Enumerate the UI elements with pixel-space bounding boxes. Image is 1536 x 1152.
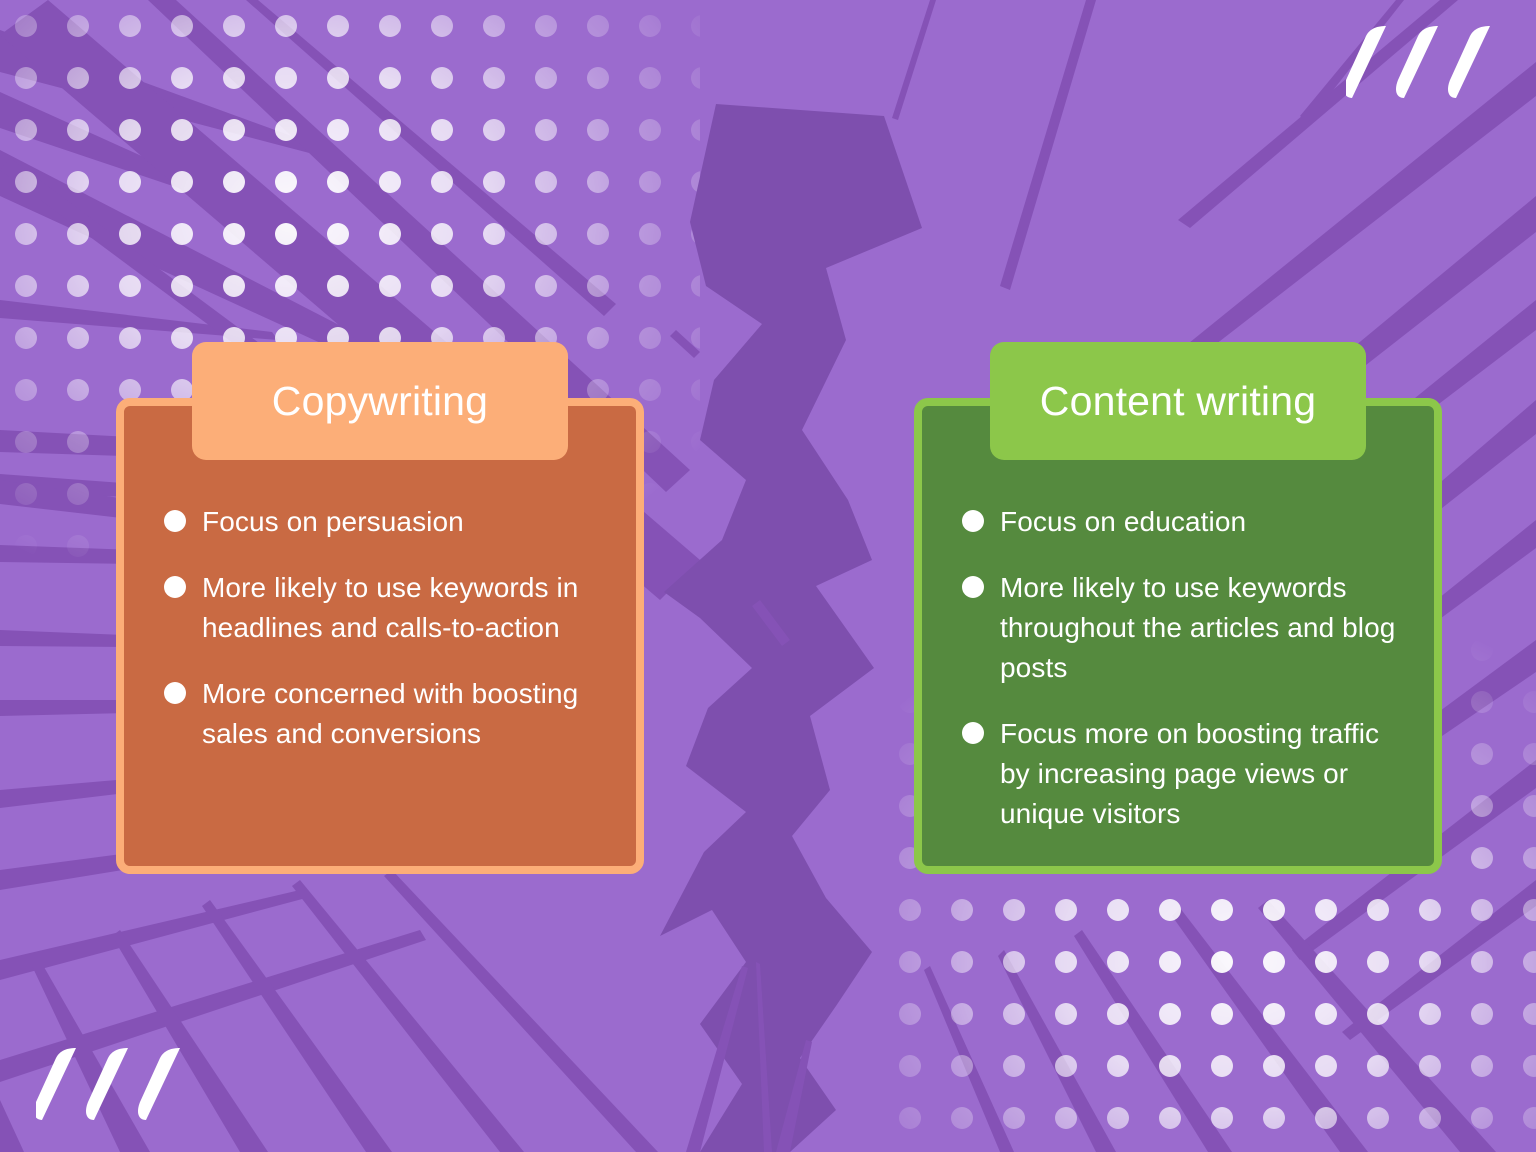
list-item: Focus on persuasion (164, 502, 602, 542)
bullet-text: Focus on persuasion (202, 502, 464, 542)
copywriting-card: Focus on persuasion More likely to use k… (116, 398, 644, 874)
bullet-dot-icon (962, 576, 984, 598)
list-item: More concerned with boosting sales and c… (164, 674, 602, 754)
brand-logo-top-right-icon (1346, 24, 1504, 100)
list-item: More likely to use keywords in headlines… (164, 568, 602, 648)
bullet-dot-icon (164, 510, 186, 532)
copywriting-bullet-list: Focus on persuasion More likely to use k… (164, 502, 602, 754)
bullet-dot-icon (164, 576, 186, 598)
bullet-dot-icon (962, 722, 984, 744)
lightning-crack-divider (660, 104, 922, 1152)
bullet-text: More likely to use keywords in headlines… (202, 568, 602, 648)
content-writing-bullet-list: Focus on education More likely to use ke… (962, 502, 1400, 834)
copywriting-title: Copywriting (272, 381, 488, 422)
brand-logo-bottom-left-icon (36, 1046, 194, 1122)
slide-canvas: Focus on persuasion More likely to use k… (0, 0, 1536, 1152)
list-item: Focus more on boosting traffic by increa… (962, 714, 1400, 834)
bullet-dot-icon (164, 682, 186, 704)
content-writing-title: Content writing (1040, 381, 1316, 422)
bullet-dot-icon (962, 510, 984, 532)
bullet-text: Focus more on boosting traffic by increa… (1000, 714, 1400, 834)
list-item: More likely to use keywords throughout t… (962, 568, 1400, 688)
bullet-text: Focus on education (1000, 502, 1246, 542)
bullet-text: More concerned with boosting sales and c… (202, 674, 602, 754)
content-writing-title-tab: Content writing (990, 342, 1366, 460)
content-writing-card: Focus on education More likely to use ke… (914, 398, 1442, 874)
bullet-text: More likely to use keywords throughout t… (1000, 568, 1400, 688)
copywriting-title-tab: Copywriting (192, 342, 568, 460)
list-item: Focus on education (962, 502, 1400, 542)
